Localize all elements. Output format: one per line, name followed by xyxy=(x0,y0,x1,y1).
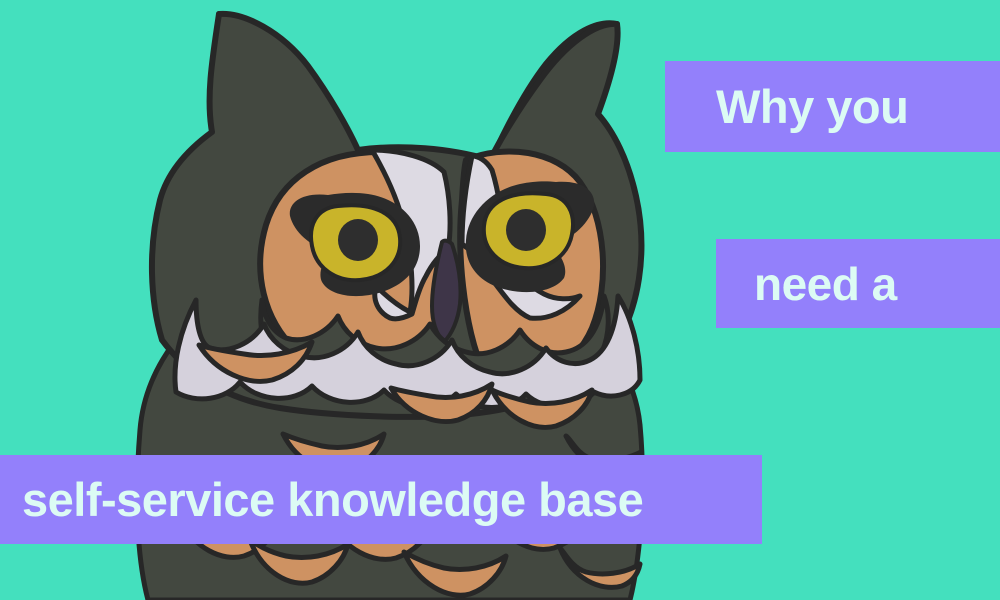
headline-text-line-2: need a xyxy=(754,261,897,307)
left-eye-pupil xyxy=(338,219,378,261)
right-eye-pupil xyxy=(506,209,546,251)
headline-banner-line-2: need a xyxy=(716,239,1000,328)
headline-banner-line-1: Why you xyxy=(665,61,1000,152)
headline-text-line-1: Why you xyxy=(716,83,908,130)
headline-text-line-3: self-service knowledge base xyxy=(22,476,643,523)
headline-banner-line-3: self-service knowledge base xyxy=(0,455,762,544)
poster-canvas: Why you need a self-service knowledge ba… xyxy=(0,0,1000,600)
